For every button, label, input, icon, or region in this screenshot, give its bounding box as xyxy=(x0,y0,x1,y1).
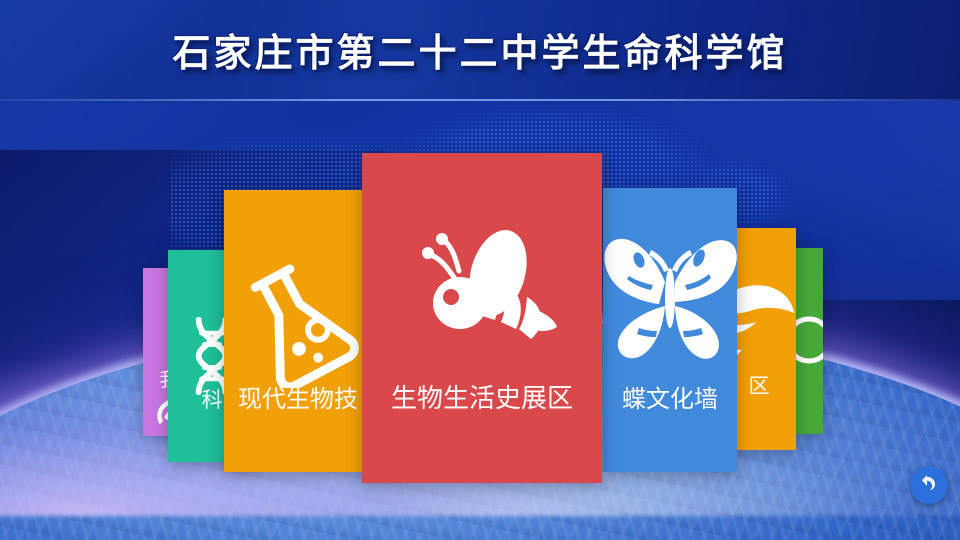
app-root: 石家庄市第二十二中学生命科学馆 我 xyxy=(0,0,960,540)
carousel-card-3-label: 生物生活史展区 xyxy=(362,378,602,415)
carousel-card-2[interactable]: 现代生物技 xyxy=(224,190,372,472)
carousel-card-6[interactable] xyxy=(795,248,823,434)
circle-icon xyxy=(795,314,823,371)
butterfly-icon xyxy=(603,224,737,379)
carousel-card-4-label: 蝶文化墙 xyxy=(603,379,737,414)
carousel-card-4[interactable]: 蝶文化墙 xyxy=(603,188,737,472)
carousel-card-3-active[interactable]: 生物生活史展区 xyxy=(362,153,602,483)
carousel-card-2-label: 现代生物技 xyxy=(224,379,372,414)
exhibit-carousel[interactable]: 我 科 xyxy=(0,0,960,540)
back-button[interactable] xyxy=(910,466,948,504)
return-arrow-icon xyxy=(918,472,940,499)
bee-icon xyxy=(397,213,567,378)
flask-icon xyxy=(235,264,361,393)
